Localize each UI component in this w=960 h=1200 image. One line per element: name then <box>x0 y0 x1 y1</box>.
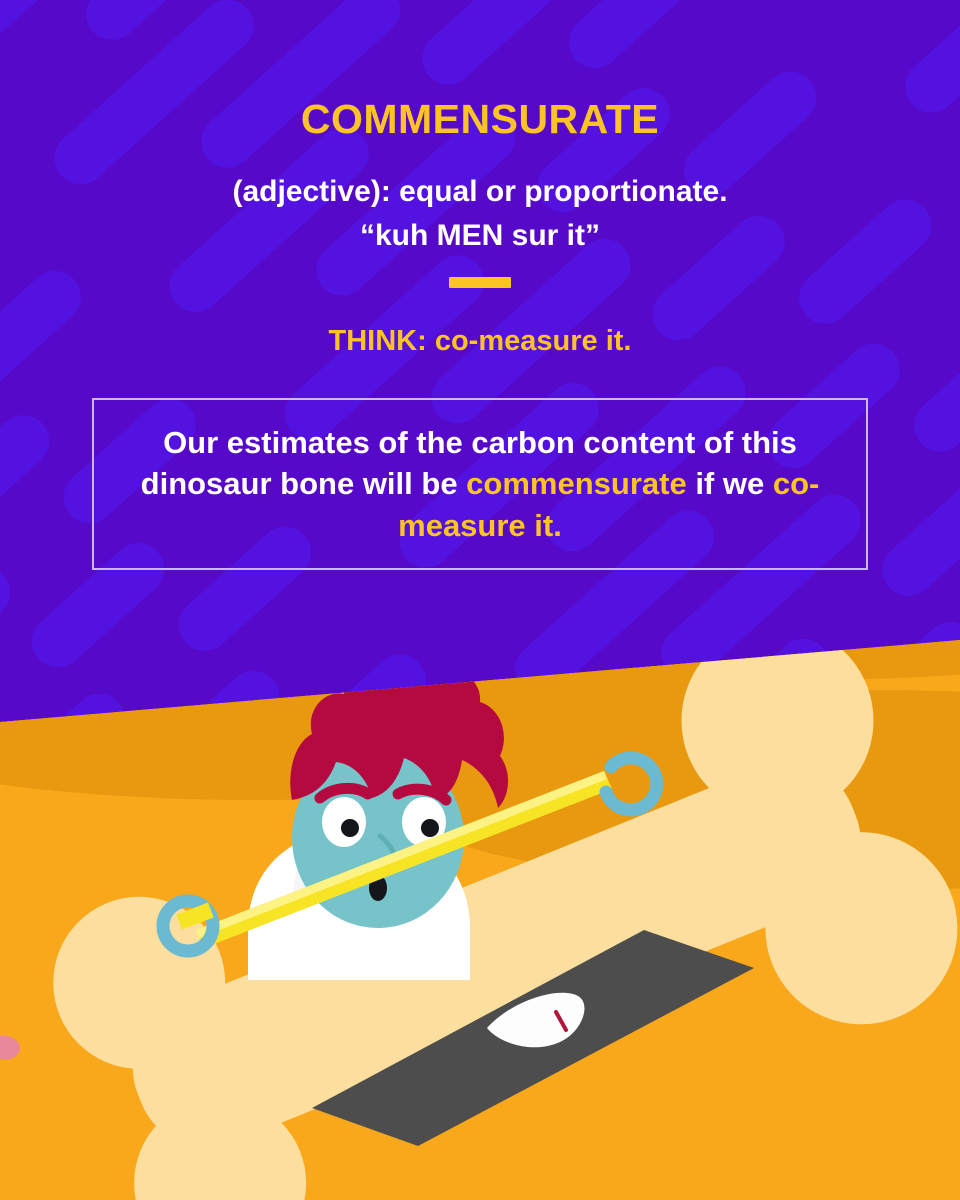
sentence-part-2: if we <box>687 466 773 501</box>
stripe-shape <box>412 0 566 95</box>
think-mnemonic: co-measure it. <box>435 325 632 357</box>
think-label: THINK: <box>329 325 427 357</box>
mnemonic-line: THINK: co-measure it. <box>0 323 960 361</box>
definition-line-1: (adjective): equal or proportionate. <box>0 170 960 214</box>
sentence-highlight-1: commensurate <box>466 466 687 501</box>
divider-rule <box>449 277 511 288</box>
stripe-shape <box>558 0 712 79</box>
example-sentence-box: Our estimates of the carbon content of t… <box>92 398 868 570</box>
vocabulary-card: COMMENSURATE (adjective): equal or propo… <box>0 0 960 1200</box>
definition-line-2: “kuh MEN sur it” <box>0 214 960 258</box>
example-sentence: Our estimates of the carbon content of t… <box>110 422 850 547</box>
stripe-shape <box>0 404 60 550</box>
stripe-shape <box>872 461 960 607</box>
page-title: COMMENSURATE <box>0 98 960 141</box>
definition-block: (adjective): equal or proportionate. “ku… <box>0 170 960 258</box>
